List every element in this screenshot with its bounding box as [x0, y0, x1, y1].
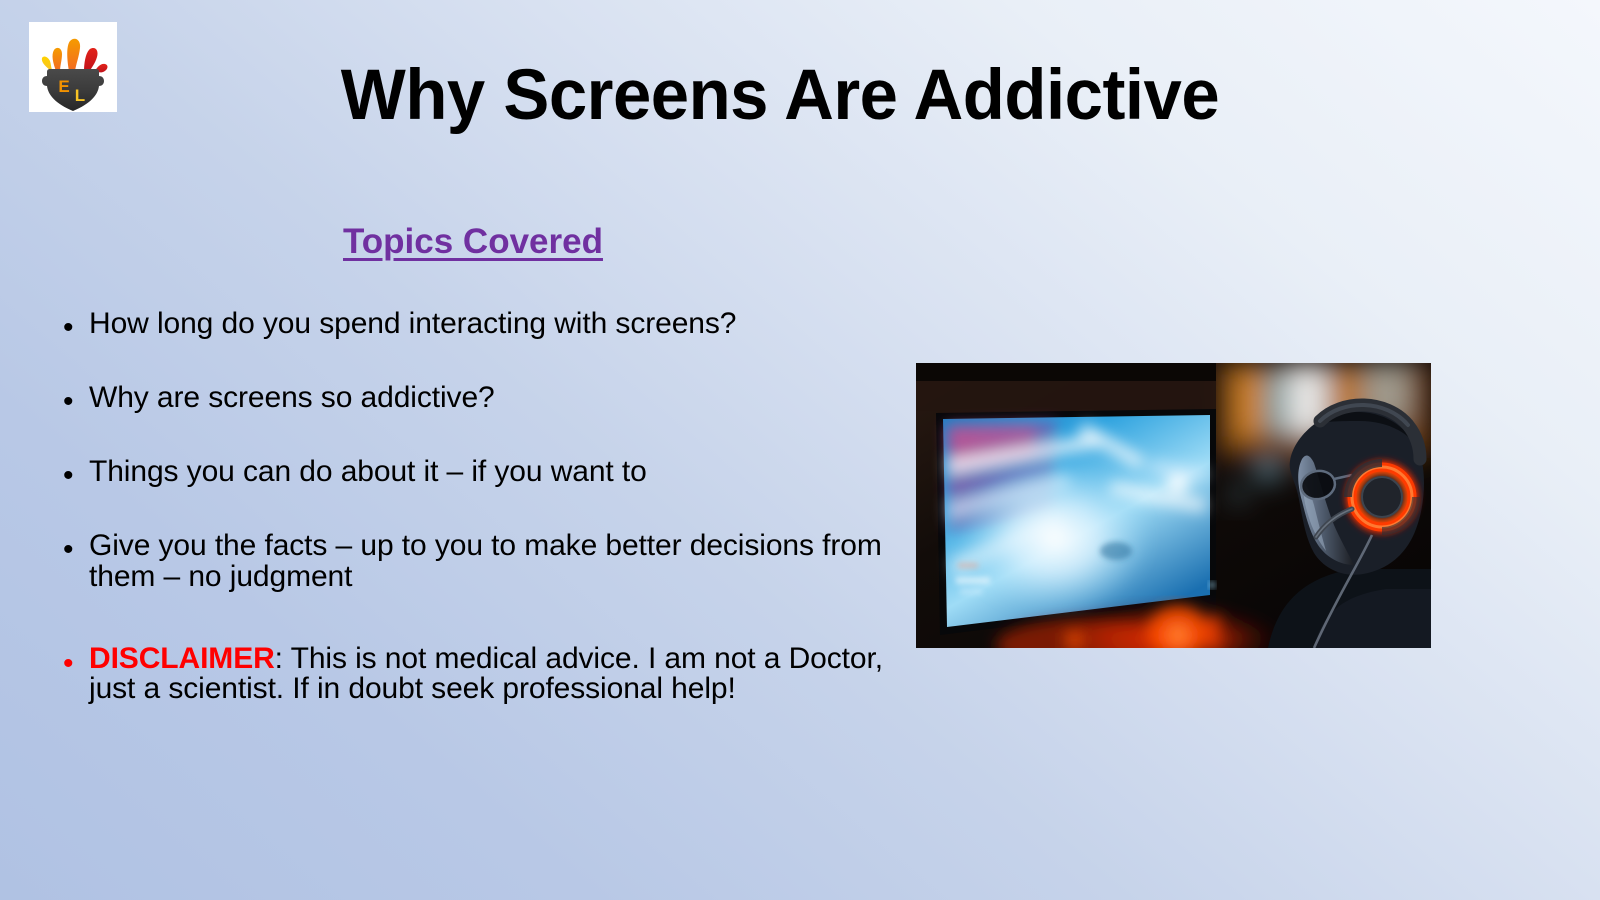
- logo-letter-l: L: [75, 86, 85, 105]
- disclaimer-emphasis: DISCLAIMER: [89, 642, 275, 675]
- slide-title: Why Screens Are Addictive: [140, 60, 1420, 131]
- bullet-item: • Why are screens so addictive?: [55, 382, 885, 422]
- bullet-marker: •: [55, 644, 89, 684]
- brand-logo: E L: [29, 22, 117, 112]
- bullet-text: Things you can do about it – if you want…: [89, 456, 885, 487]
- bullet-text-disclaimer: DISCLAIMER: This is not medical advice. …: [89, 644, 885, 704]
- bullet-item: • Give you the facts – up to you to make…: [55, 530, 885, 592]
- gamer-photo: [916, 363, 1431, 648]
- bullet-marker: •: [55, 530, 89, 570]
- presentation-slide: E L Why Screens Are Addictive Topics Cov…: [0, 0, 1600, 900]
- bullet-text: Why are screens so addictive?: [89, 382, 885, 413]
- bullet-item: • Things you can do about it – if you wa…: [55, 456, 885, 496]
- bullet-marker: •: [55, 382, 89, 422]
- topics-bullet-list: • How long do you spend interacting with…: [55, 308, 885, 738]
- section-heading-topics-covered: Topics Covered: [343, 222, 603, 262]
- bullet-marker: •: [55, 308, 89, 348]
- bullet-item: • How long do you spend interacting with…: [55, 308, 885, 348]
- logo-icon: E L: [29, 22, 117, 112]
- bullet-item-disclaimer: • DISCLAIMER: This is not medical advice…: [55, 644, 885, 704]
- gamer-photo-illustration: [916, 363, 1431, 648]
- bullet-marker: •: [55, 456, 89, 496]
- bullet-text: Give you the facts – up to you to make b…: [89, 530, 885, 592]
- bullet-text: How long do you spend interacting with s…: [89, 308, 885, 339]
- logo-letter-e: E: [58, 77, 69, 96]
